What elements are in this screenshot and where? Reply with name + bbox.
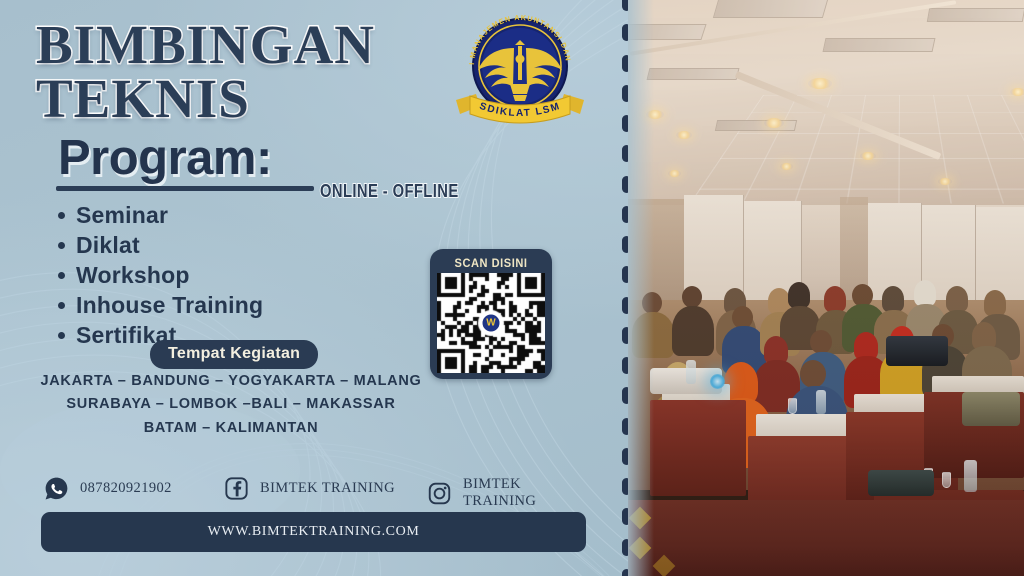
ceiling-light	[860, 152, 876, 160]
ceiling-light	[808, 78, 832, 89]
contact-facebook[interactable]: BIMTEK TRAINING	[224, 476, 395, 501]
contact-label: BIMTEK TRAINING	[260, 480, 395, 497]
ceiling-vent	[715, 120, 797, 131]
city-line: BATAM – KALIMANTAN	[0, 417, 462, 440]
ceiling-vent	[713, 0, 829, 18]
ceiling-tiles	[689, 95, 1024, 204]
laptop-bag	[868, 470, 934, 496]
photo-floor	[628, 500, 1024, 576]
qr-label: SCAN DISINI	[441, 255, 540, 271]
facebook-icon	[224, 476, 249, 501]
ceiling-light	[764, 118, 784, 128]
city-line: SURABAYA – LOMBOK –BALI – MAKASSAR	[0, 393, 462, 416]
photo-left-fade	[628, 0, 654, 576]
water-bottle	[686, 360, 696, 384]
seminar-photo	[628, 0, 1024, 576]
list-item: Seminar	[50, 200, 263, 230]
tote-bag	[962, 392, 1020, 426]
ceiling-light	[676, 131, 692, 139]
poster-root: BIMBINGAN TEKNIS Program: ONLINE - OFFLI…	[0, 0, 1024, 576]
projector-lens	[710, 374, 725, 389]
program-divider-rule	[56, 186, 314, 191]
ceiling-vent	[823, 38, 936, 52]
ceiling-light	[1010, 88, 1024, 96]
city-list: JAKARTA – BANDUNG – YOGYAKARTA – MALANG …	[0, 370, 462, 440]
instagram-icon	[427, 481, 452, 506]
water-bottle	[816, 390, 826, 414]
drinking-glass	[942, 472, 951, 488]
qr-card[interactable]: SCAN DISINI W	[430, 249, 552, 379]
photo-ceiling	[628, 0, 1024, 215]
contact-label: 087820921902	[80, 480, 172, 497]
contact-whatsapp[interactable]: 087820921902	[44, 476, 172, 501]
online-offline-tag: ONLINE - OFFLINE	[320, 181, 459, 202]
ceiling-light	[668, 170, 681, 177]
laptop	[886, 336, 948, 366]
list-item: Diklat	[50, 230, 263, 260]
list-item: Workshop	[50, 260, 263, 290]
qr-center-mark: W	[486, 318, 495, 328]
drinking-glass	[788, 398, 797, 414]
program-title: Program:	[58, 130, 272, 186]
city-line: JAKARTA – BANDUNG – YOGYAKARTA – MALANG	[0, 370, 462, 393]
tempat-kegiatan-badge: Tempat Kegiatan	[150, 340, 318, 369]
contact-label: BIMTEK TRAINING	[463, 476, 589, 510]
whatsapp-icon	[44, 476, 69, 501]
ceiling-vent	[647, 68, 740, 80]
ceiling-light	[780, 163, 793, 170]
list-item: Inhouse Training	[50, 290, 263, 320]
water-bottle	[964, 460, 977, 492]
contact-row: 087820921902 BIMTEK TRAINING BIMTEK TRAI…	[44, 476, 589, 504]
ceiling-light	[938, 178, 952, 185]
ceiling-vent	[927, 8, 1024, 22]
qr-code[interactable]: W	[437, 273, 545, 373]
contact-instagram[interactable]: BIMTEK TRAINING	[427, 476, 589, 510]
website-url: WWW.BIMTEKTRAINING.COM	[208, 524, 420, 540]
program-list: Seminar Diklat Workshop Inhouse Training…	[50, 200, 263, 350]
left-info-panel: BIMBINGAN TEKNIS Program: ONLINE - OFFLI…	[0, 0, 628, 576]
qr-center-logo: W	[481, 313, 502, 334]
website-bar[interactable]: WWW.BIMTEKTRAINING.COM	[41, 512, 586, 552]
organization-logo: LEMBAGA STUDI MANAJEMEN AKUNTANSI DAN PE…	[444, 4, 596, 136]
